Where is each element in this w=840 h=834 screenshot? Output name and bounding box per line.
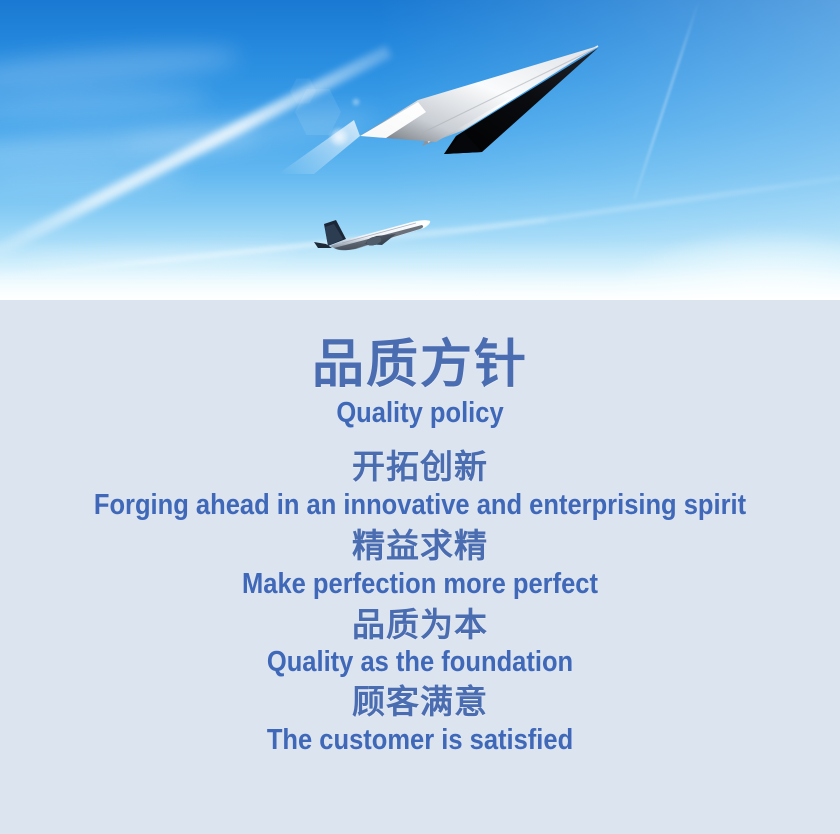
paper-airplane-icon <box>268 24 618 174</box>
policy-item-4-cn: 顾客满意 <box>0 683 840 721</box>
policy-item-2-cn: 精益求精 <box>0 527 840 565</box>
page-title-cn: 品质方针 <box>0 336 840 394</box>
policy-item-2-en: Make perfection more perfect <box>50 567 789 601</box>
policy-item-4-en: The customer is satisfied <box>50 723 789 757</box>
hero-banner <box>0 0 840 300</box>
quality-policy-panel: 品质方针 Quality policy 开拓创新 Forging ahead i… <box>0 300 840 834</box>
policy-item-3-cn: 品质为本 <box>0 606 840 644</box>
quality-policy-page: 品质方针 Quality policy 开拓创新 Forging ahead i… <box>0 0 840 834</box>
page-title-en: Quality policy <box>50 396 789 430</box>
policy-item-1-en: Forging ahead in an innovative and enter… <box>50 488 789 522</box>
policy-item-1-cn: 开拓创新 <box>0 448 840 486</box>
policy-item-3-en: Quality as the foundation <box>50 645 789 679</box>
jetliner-icon <box>312 208 442 256</box>
